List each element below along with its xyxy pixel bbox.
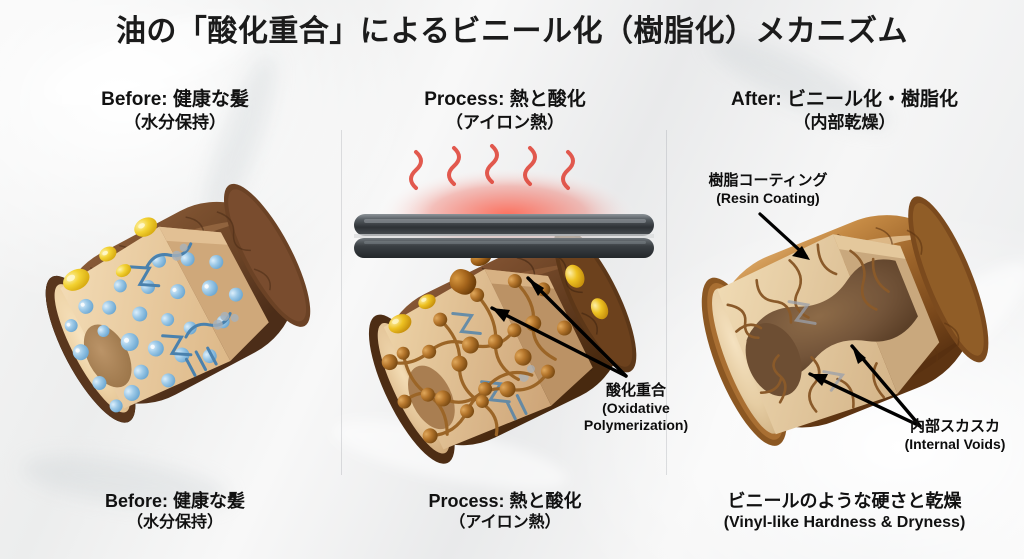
panel-header-process-line1: Process: 熱と酸化: [345, 88, 665, 112]
page-title: 油の「酸化重合」によるビニール化（樹脂化）メカニズム: [0, 14, 1024, 50]
panel-header-after-line1: After: ビニール化・樹脂化: [672, 88, 1017, 112]
panel-footer-process-line1: Process: 熱と酸化: [345, 490, 665, 513]
annotation-resin-coating: 樹脂コーティング (Resin Coating): [668, 172, 868, 207]
panel-footer-after-line1: ビニールのような硬さと乾燥: [672, 490, 1017, 513]
annotation-internal-voids-jp: 内部スカスカ: [880, 418, 1024, 436]
panel-footer-process-line2: （アイロン熱）: [345, 513, 665, 533]
panel-footer-after: ビニールのような硬さと乾燥 (Vinyl-like Hardness & Dry…: [672, 490, 1017, 534]
annotation-internal-voids-en: (Internal Voids): [880, 436, 1024, 453]
panel-footer-before-line1: Before: 健康な髪: [10, 490, 340, 513]
panel-header-process: Process: 熱と酸化 （アイロン熱）: [345, 88, 665, 134]
annotation-resin-coating-en: (Resin Coating): [668, 190, 868, 207]
panel-header-before: Before: 健康な髪 （水分保持）: [10, 88, 340, 134]
oxidative-polymerization-arrows: [470, 248, 660, 388]
panel-header-process-line2: （アイロン熱）: [345, 112, 665, 134]
panel-divider-left: [341, 130, 342, 475]
panel-header-after: After: ビニール化・樹脂化 （内部乾燥）: [672, 88, 1017, 134]
resin-coating-arrow: [756, 210, 826, 270]
panel-header-before-line1: Before: 健康な髪: [10, 88, 340, 112]
infographic-canvas: 油の「酸化重合」によるビニール化（樹脂化）メカニズム Before: 健康な髪 …: [0, 0, 1024, 559]
annotation-internal-voids: 内部スカスカ (Internal Voids): [880, 418, 1024, 453]
panel-footer-after-line2: (Vinyl-like Hardness & Dryness): [672, 513, 1017, 533]
panel-before-illustration: [18, 165, 338, 445]
panel-footer-process: Process: 熱と酸化 （アイロン熱）: [345, 490, 665, 534]
panel-footer-before: Before: 健康な髪 （水分保持）: [10, 490, 340, 534]
healthy-hair-strand-diagram: [18, 165, 338, 445]
panel-footer-before-line2: （水分保持）: [10, 513, 340, 533]
panel-header-before-line2: （水分保持）: [10, 112, 340, 134]
panel-header-after-line2: （内部乾燥）: [672, 112, 1017, 134]
annotation-resin-coating-jp: 樹脂コーティング: [668, 172, 868, 190]
